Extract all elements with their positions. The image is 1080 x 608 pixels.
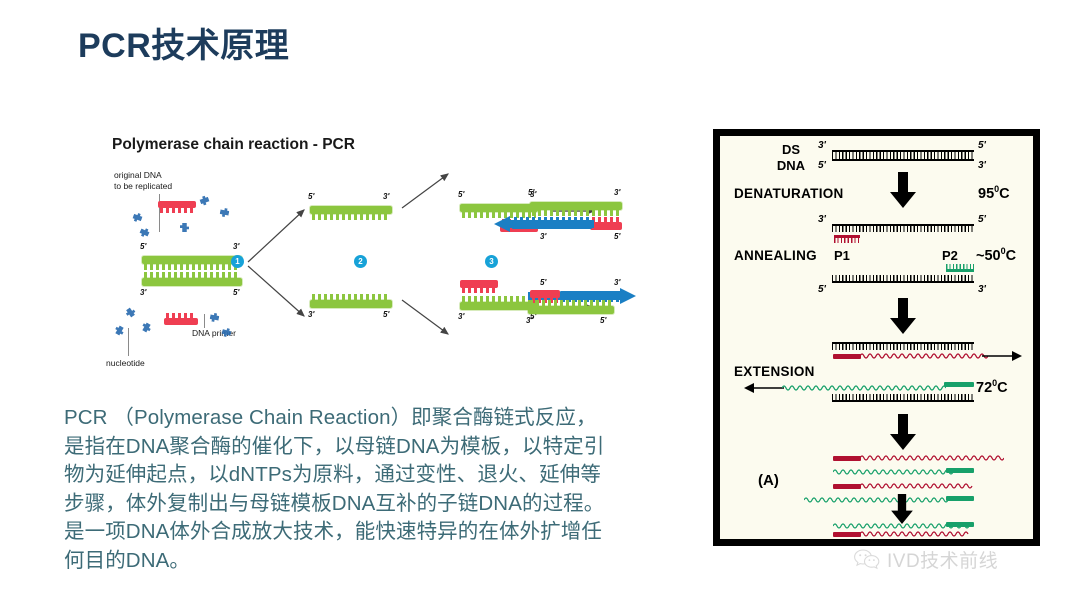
dna-rail: [832, 281, 974, 283]
product-template-top: [530, 202, 622, 210]
nucleotide-icon: [180, 223, 189, 232]
prime-mark-3: 3': [818, 214, 826, 225]
prime-mark-3: 3': [526, 316, 532, 325]
pcr-cycle-figure: DS DNA 3' 5' 5' 3' DENATURATION 950C 3' …: [713, 129, 1040, 546]
template-strand-upper: [832, 224, 974, 232]
primer-bar: [946, 269, 974, 272]
down-arrow-icon: [890, 298, 916, 334]
nucleotide-icon: [124, 306, 137, 319]
down-arrow-icon: [890, 172, 916, 208]
annealed-template-top: [460, 204, 538, 212]
prime-mark-5: 5': [978, 214, 986, 225]
arrow-split: [242, 200, 314, 325]
separated-strand-bottom: [310, 300, 392, 308]
dna-rail: [832, 159, 974, 161]
paragraph-line: 何目的DNA。: [64, 547, 678, 576]
step-badge-2: 2: [354, 255, 367, 268]
prime-mark-5: 5': [818, 284, 826, 295]
label-denaturation: DENATURATION: [734, 186, 844, 201]
prime-mark-5: 5': [140, 242, 146, 251]
prime-mark-5: 5': [233, 288, 239, 297]
nucleotide-icon: [140, 321, 152, 333]
figure-title: Polymerase chain reaction - PCR: [112, 136, 355, 154]
label-extension: EXTENSION: [734, 364, 815, 379]
temperature-extension: 720C: [976, 378, 1008, 396]
prime-mark-3: 3': [308, 310, 314, 319]
body-paragraph: PCR （Polymerase Chain Reaction）即聚合酶链式反应，…: [64, 404, 678, 575]
nucleotide-icon: [219, 207, 229, 217]
final-red-wave: [860, 528, 974, 540]
template-strand-top: [142, 256, 242, 264]
product-primer-green-2: [946, 496, 974, 501]
double-stranded-dna: [832, 150, 974, 161]
leader-line-nucleotide: [128, 328, 129, 356]
annealed-template-bottom: [460, 302, 538, 310]
new-strand-teeth-top: [512, 222, 592, 229]
nucleotide-icon: [113, 324, 125, 336]
prime-mark-5: 5': [458, 190, 464, 199]
new-strand-red-wave: [860, 350, 988, 362]
paragraph-line: PCR （Polymerase Chain Reaction）即聚合酶链式反应，: [64, 404, 678, 433]
label-ds-dna: DS DNA: [768, 142, 814, 174]
nucleotide-icon: [132, 212, 144, 224]
annealed-primer-bottom: [460, 280, 498, 288]
product-green-wave-2: [804, 494, 952, 506]
wechat-icon: [854, 549, 880, 570]
prime-mark-5: 5': [600, 316, 606, 325]
temperature-annealing: ~500C: [976, 246, 1016, 264]
product-green-wave-1: [833, 466, 955, 478]
watermark: IVD技术前线: [854, 546, 998, 573]
leader-line-original-dna: [159, 194, 160, 232]
prime-mark-5: 5': [308, 192, 314, 201]
final-primer-red: [833, 532, 861, 537]
new-strand-green-wave: [782, 382, 946, 394]
dna-rail: [832, 400, 974, 402]
primer-p2: [946, 264, 974, 272]
extension-primer-p1: [833, 354, 861, 359]
product-red-wave-1: [860, 452, 1004, 464]
prime-mark-3: 3': [978, 284, 986, 295]
prime-mark-5: 5': [978, 140, 986, 151]
paragraph-line: 是一项DNA体外合成放大技术，能快速特异的在体外扩增任: [64, 518, 678, 547]
arrow-anneal-bottom: [400, 298, 456, 340]
prime-mark-3: 3': [978, 160, 986, 171]
paragraph-line: 是指在DNA聚合酶的催化下，以母链DNA为模板，以特定引: [64, 433, 678, 462]
step-badge-3: 3: [485, 255, 498, 268]
prime-mark-5: 5': [614, 232, 620, 241]
free-primer: [164, 318, 198, 325]
product-red-wave-2: [860, 480, 976, 492]
pcr-overview-figure: Polymerase chain reaction - PCR original…: [100, 128, 700, 378]
down-arrow-icon: [890, 414, 916, 450]
leader-line-dna-primer: [204, 314, 205, 328]
label-annealing: ANNEALING: [734, 248, 817, 263]
label-p1: P1: [834, 248, 850, 263]
prime-mark-3: 3': [614, 188, 620, 197]
prime-mark-5: 5': [540, 278, 546, 287]
prime-mark-5: 5': [528, 188, 534, 197]
product-primer-green-1: [946, 468, 974, 473]
final-primer-green: [946, 522, 974, 527]
prime-mark-3: 3': [818, 140, 826, 151]
prime-mark-3: 3': [140, 288, 146, 297]
extension-template-lower: [832, 394, 974, 402]
prime-mark-3: 3': [383, 192, 389, 201]
separated-strand-top: [310, 206, 392, 214]
primer-p1: [834, 235, 860, 243]
prime-mark-5: 5': [818, 160, 826, 171]
extension-template-upper: [832, 342, 974, 350]
product-template-bottom: [528, 306, 614, 314]
temperature-denaturation: 950C: [978, 184, 1010, 202]
dna-rungs: [832, 152, 974, 160]
prime-mark-3: 3': [614, 278, 620, 287]
extension-arrow-left: [744, 382, 784, 394]
prime-mark-3: 3': [233, 242, 239, 251]
watermark-text: IVD技术前线: [887, 546, 998, 573]
template-strand-bottom: [142, 278, 242, 286]
paragraph-line: 步骤，体外复制出与母链模板DNA互补的子链DNA的过程。: [64, 490, 678, 519]
extension-primer-p2: [944, 382, 974, 387]
page-title: PCR技术原理: [78, 18, 289, 67]
label-original-dna: original DNA to be replicated: [114, 170, 172, 191]
primer-bar: [834, 235, 860, 238]
prime-mark-5: 5': [383, 310, 389, 319]
primer-teeth: [834, 238, 860, 243]
free-primer: [158, 201, 196, 208]
label-panel-a: (A): [758, 472, 779, 489]
arrow-anneal-top: [400, 168, 456, 210]
label-nucleotide: nucleotide: [106, 358, 145, 369]
extension-arrow-right: [982, 350, 1022, 362]
prime-mark-3: 3': [540, 232, 546, 241]
template-strand-lower: [832, 275, 974, 283]
product-primer-bottom: [530, 290, 560, 298]
dna-teeth: [832, 226, 974, 232]
new-strand-teeth-bottom: [560, 291, 622, 297]
nucleotide-icon: [199, 195, 211, 207]
nucleotide-icon: [139, 227, 151, 239]
label-p2: P2: [942, 248, 958, 263]
prime-mark-3: 3': [458, 312, 464, 321]
product-primer-red-2: [833, 484, 861, 489]
paragraph-line: 物为延伸起点，以dNTPs为原料，通过变性、退火、延伸等: [64, 461, 678, 490]
product-primer-red-1: [833, 456, 861, 461]
nucleotide-icon: [209, 312, 219, 322]
product-primer-top: [590, 222, 622, 230]
